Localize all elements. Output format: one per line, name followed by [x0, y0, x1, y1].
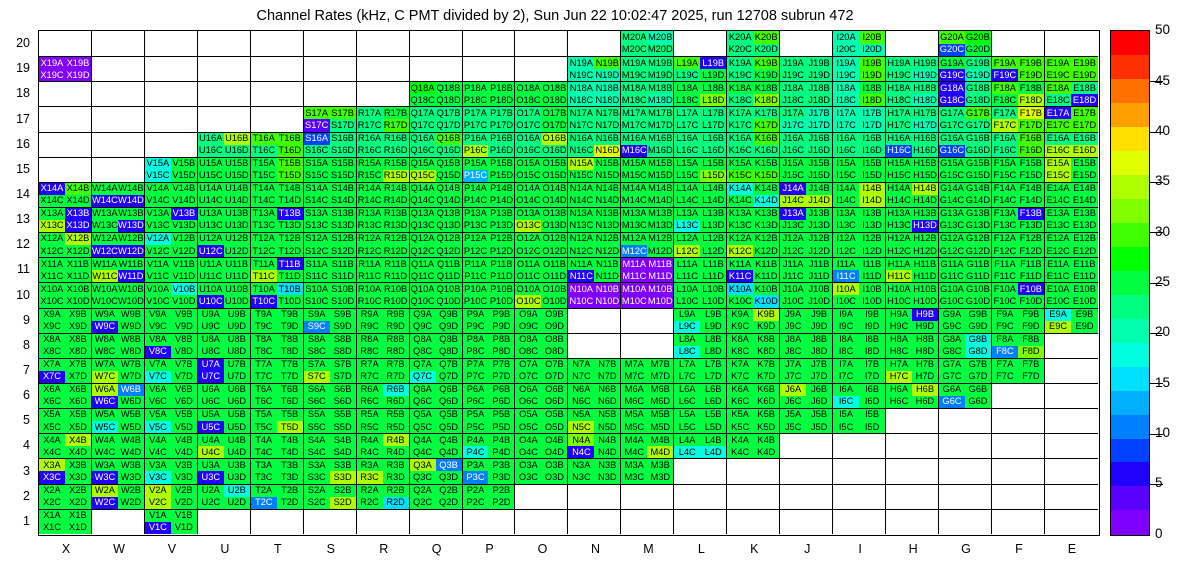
- heatmap-cell[interactable]: T11AT11BT11CT11D: [251, 257, 304, 282]
- channel-swatch[interactable]: U12D: [224, 245, 250, 257]
- heatmap-cell[interactable]: [1045, 31, 1098, 56]
- channel-swatch[interactable]: N15A: [568, 158, 594, 170]
- channel-swatch[interactable]: K11D: [753, 270, 779, 282]
- heatmap-cell[interactable]: [674, 484, 727, 509]
- channel-swatch[interactable]: Q8A: [410, 334, 436, 346]
- channel-swatch[interactable]: K16D: [753, 145, 779, 157]
- channel-swatch[interactable]: M6D: [647, 396, 673, 408]
- channel-swatch[interactable]: U9B: [224, 309, 250, 321]
- channel-swatch[interactable]: F17B: [1018, 107, 1044, 119]
- channel-swatch[interactable]: J17B: [806, 107, 832, 119]
- heatmap-cell[interactable]: O16AO16BO16CO16D: [515, 132, 568, 157]
- channel-swatch[interactable]: G18B: [965, 82, 991, 94]
- channel-swatch[interactable]: L7A: [674, 359, 700, 371]
- channel-swatch[interactable]: M13B: [647, 208, 673, 220]
- channel-swatch[interactable]: Q13A: [410, 208, 436, 220]
- channel-swatch[interactable]: W10C: [92, 295, 118, 307]
- heatmap-cell[interactable]: P18AP18BP18CP18D: [463, 81, 516, 106]
- channel-swatch[interactable]: K7D: [753, 371, 779, 383]
- heatmap-cell[interactable]: I5AI5BI5CI5D: [833, 408, 886, 433]
- channel-swatch[interactable]: J8B: [806, 334, 832, 346]
- channel-swatch[interactable]: K19A: [727, 57, 753, 69]
- channel-swatch[interactable]: L16B: [700, 133, 726, 145]
- heatmap-cell[interactable]: P8AP8BP8CP8D: [463, 333, 516, 358]
- channel-swatch[interactable]: P14B: [488, 183, 514, 195]
- channel-swatch[interactable]: M4A: [621, 434, 647, 446]
- channel-swatch[interactable]: U10C: [198, 295, 224, 307]
- channel-swatch[interactable]: E13D: [1071, 220, 1097, 232]
- channel-swatch[interactable]: O15A: [515, 158, 541, 170]
- channel-swatch[interactable]: J10A: [780, 283, 806, 295]
- channel-swatch[interactable]: T4C: [251, 446, 277, 458]
- channel-swatch[interactable]: M6C: [621, 396, 647, 408]
- channel-swatch[interactable]: P5D: [488, 421, 514, 433]
- channel-swatch[interactable]: Q16B: [436, 133, 462, 145]
- channel-swatch[interactable]: F13D: [1018, 220, 1044, 232]
- heatmap-cell[interactable]: [621, 509, 674, 534]
- heatmap-cell[interactable]: [145, 56, 198, 81]
- heatmap-cell[interactable]: X19AX19BX19CX19D: [39, 56, 92, 81]
- channel-swatch[interactable]: V13A: [145, 208, 171, 220]
- channel-swatch[interactable]: U8C: [198, 346, 224, 358]
- channel-swatch[interactable]: G9B: [965, 309, 991, 321]
- channel-swatch[interactable]: P7C: [463, 371, 489, 383]
- heatmap-cell[interactable]: J9AJ9BJ9CJ9D: [780, 308, 833, 333]
- heatmap-cell[interactable]: H12AH12BH12CH12D: [886, 232, 939, 257]
- channel-swatch[interactable]: Q14C: [410, 195, 436, 207]
- heatmap-cell[interactable]: U7AU7BU7CU7D: [198, 358, 251, 383]
- channel-swatch[interactable]: N3B: [594, 459, 620, 471]
- heatmap-cell[interactable]: W5AW5BW5CW5D: [92, 408, 145, 433]
- heatmap-cell[interactable]: I17AI17BI17CI17D: [833, 106, 886, 131]
- channel-swatch[interactable]: P4C: [463, 446, 489, 458]
- channel-swatch[interactable]: R11D: [383, 270, 409, 282]
- channel-swatch[interactable]: K14C: [727, 195, 753, 207]
- channel-swatch[interactable]: X8C: [39, 346, 65, 358]
- channel-swatch[interactable]: S9B: [330, 309, 356, 321]
- channel-swatch[interactable]: G11A: [939, 258, 965, 270]
- channel-swatch[interactable]: G8A: [939, 334, 965, 346]
- heatmap-cell[interactable]: P14AP14BP14CP14D: [463, 182, 516, 207]
- channel-swatch[interactable]: O10C: [515, 295, 541, 307]
- channel-swatch[interactable]: R5B: [383, 409, 409, 421]
- channel-swatch[interactable]: G17D: [965, 119, 991, 131]
- channel-swatch[interactable]: T10C: [251, 295, 277, 307]
- heatmap-cell[interactable]: S5AS5BS5CS5D: [304, 408, 357, 433]
- channel-swatch[interactable]: R13B: [383, 208, 409, 220]
- heatmap-cell[interactable]: K13AK13BK13CK13D: [727, 207, 780, 232]
- heatmap-cell[interactable]: O3AO3BO3CO3D: [515, 458, 568, 483]
- heatmap-cell[interactable]: K17AK17BK17CK17D: [727, 106, 780, 131]
- heatmap-cell[interactable]: T16AT16BT16CT16D: [251, 132, 304, 157]
- channel-swatch[interactable]: V14D: [171, 195, 197, 207]
- heatmap-cell[interactable]: U9AU9BU9CU9D: [198, 308, 251, 333]
- heatmap-cell[interactable]: [251, 509, 304, 534]
- channel-swatch[interactable]: Q13B: [436, 208, 462, 220]
- channel-swatch[interactable]: F16A: [992, 133, 1018, 145]
- channel-swatch[interactable]: N13D: [594, 220, 620, 232]
- channel-swatch[interactable]: M19A: [621, 57, 647, 69]
- channel-swatch[interactable]: E9C: [1045, 321, 1071, 333]
- heatmap-cell[interactable]: O7AO7BO7CO7D: [515, 358, 568, 383]
- channel-swatch[interactable]: W13D: [118, 220, 144, 232]
- channel-swatch[interactable]: I6C: [833, 396, 859, 408]
- heatmap-cell[interactable]: W8AW8BW8CW8D: [92, 333, 145, 358]
- channel-swatch[interactable]: F11C: [992, 270, 1018, 282]
- channel-swatch[interactable]: V15D: [171, 170, 197, 182]
- channel-swatch[interactable]: N7A: [568, 359, 594, 371]
- channel-swatch[interactable]: T15A: [251, 158, 277, 170]
- channel-swatch[interactable]: T15B: [277, 158, 303, 170]
- channel-swatch[interactable]: X2C: [39, 497, 65, 509]
- channel-swatch[interactable]: E11D: [1071, 270, 1097, 282]
- channel-swatch[interactable]: J5A: [780, 409, 806, 421]
- channel-swatch[interactable]: T5A: [251, 409, 277, 421]
- channel-swatch[interactable]: M19B: [647, 57, 673, 69]
- channel-swatch[interactable]: I17A: [833, 107, 859, 119]
- heatmap-cell[interactable]: U11AU11BU11CU11D: [198, 257, 251, 282]
- heatmap-cell[interactable]: [621, 333, 674, 358]
- heatmap-cell[interactable]: O13AO13BO13CO13D: [515, 207, 568, 232]
- channel-swatch[interactable]: H11D: [912, 270, 938, 282]
- channel-swatch[interactable]: E14C: [1045, 195, 1071, 207]
- heatmap-cell[interactable]: G16AG16BG16CG16D: [939, 132, 992, 157]
- channel-swatch[interactable]: W2A: [92, 485, 118, 497]
- heatmap-cell[interactable]: P9AP9BP9CP9D: [463, 308, 516, 333]
- channel-swatch[interactable]: X3B: [65, 459, 91, 471]
- channel-swatch[interactable]: Q4C: [410, 446, 436, 458]
- channel-swatch[interactable]: X6D: [65, 396, 91, 408]
- channel-swatch[interactable]: N5A: [568, 409, 594, 421]
- channel-swatch[interactable]: F15C: [992, 170, 1018, 182]
- channel-swatch[interactable]: S10C: [304, 295, 330, 307]
- heatmap-cell[interactable]: X13AX13BX13CX13D: [39, 207, 92, 232]
- heatmap-cell[interactable]: F15AF15BF15CF15D: [992, 157, 1045, 182]
- channel-swatch[interactable]: H10C: [886, 295, 912, 307]
- channel-swatch[interactable]: O11A: [515, 258, 541, 270]
- channel-swatch[interactable]: F7C: [992, 371, 1018, 383]
- channel-swatch[interactable]: E10A: [1045, 283, 1071, 295]
- channel-swatch[interactable]: F14C: [992, 195, 1018, 207]
- channel-swatch[interactable]: T13D: [277, 220, 303, 232]
- heatmap-cell[interactable]: K8AK8BK8CK8D: [727, 333, 780, 358]
- heatmap-cell[interactable]: U12AU12BU12CU12D: [198, 232, 251, 257]
- channel-swatch[interactable]: G17B: [965, 107, 991, 119]
- channel-swatch[interactable]: U15C: [198, 170, 224, 182]
- channel-swatch[interactable]: I11B: [859, 258, 885, 270]
- channel-swatch[interactable]: L19D: [700, 69, 726, 81]
- channel-swatch[interactable]: I20A: [833, 31, 859, 44]
- channel-swatch[interactable]: R12A: [357, 233, 383, 245]
- channel-swatch[interactable]: Q18D: [436, 94, 462, 106]
- channel-swatch[interactable]: Q13C: [410, 220, 436, 232]
- channel-swatch[interactable]: Q17B: [436, 107, 462, 119]
- channel-swatch[interactable]: K19C: [727, 69, 753, 81]
- channel-swatch[interactable]: O15B: [541, 158, 567, 170]
- channel-swatch[interactable]: O9D: [541, 321, 567, 333]
- channel-swatch[interactable]: Q11B: [436, 258, 462, 270]
- channel-swatch[interactable]: N18C: [568, 94, 594, 106]
- heatmap-cell[interactable]: [939, 408, 992, 433]
- channel-swatch[interactable]: J15A: [780, 158, 806, 170]
- channel-swatch[interactable]: K20D: [753, 44, 779, 57]
- channel-swatch[interactable]: K8B: [753, 334, 779, 346]
- heatmap-cell[interactable]: [410, 509, 463, 534]
- heatmap-cell[interactable]: [304, 31, 357, 56]
- heatmap-cell[interactable]: S17AS17BS17CS17D: [304, 106, 357, 131]
- channel-swatch[interactable]: X10A: [39, 283, 65, 295]
- channel-swatch[interactable]: R12C: [357, 245, 383, 257]
- heatmap-cell[interactable]: M13AM13BM13CM13D: [621, 207, 674, 232]
- heatmap-cell[interactable]: [886, 458, 939, 483]
- channel-swatch[interactable]: X7A: [39, 359, 65, 371]
- channel-swatch[interactable]: X5B: [65, 409, 91, 421]
- channel-swatch[interactable]: Q7B: [436, 359, 462, 371]
- channel-swatch[interactable]: R9A: [357, 309, 383, 321]
- channel-swatch[interactable]: K15B: [753, 158, 779, 170]
- channel-swatch[interactable]: O8B: [541, 334, 567, 346]
- channel-swatch[interactable]: V5D: [171, 421, 197, 433]
- channel-swatch[interactable]: G11D: [965, 270, 991, 282]
- heatmap-cell[interactable]: X12AX12BX12CX12D: [39, 232, 92, 257]
- channel-swatch[interactable]: G7D: [965, 371, 991, 383]
- heatmap-cell[interactable]: [939, 509, 992, 534]
- channel-swatch[interactable]: V9B: [171, 309, 197, 321]
- channel-swatch[interactable]: H19C: [886, 69, 912, 81]
- channel-swatch[interactable]: X9A: [39, 309, 65, 321]
- channel-swatch[interactable]: P6C: [463, 396, 489, 408]
- channel-swatch[interactable]: S10D: [330, 295, 356, 307]
- channel-swatch[interactable]: W13A: [92, 208, 118, 220]
- heatmap-cell[interactable]: K6AK6BK6CK6D: [727, 383, 780, 408]
- channel-swatch[interactable]: E18B: [1071, 82, 1097, 94]
- channel-swatch[interactable]: Q12A: [410, 233, 436, 245]
- channel-swatch[interactable]: O3A: [515, 459, 541, 471]
- channel-swatch[interactable]: K12B: [753, 233, 779, 245]
- channel-swatch[interactable]: L15B: [700, 158, 726, 170]
- channel-swatch[interactable]: U11C: [198, 270, 224, 282]
- channel-swatch[interactable]: O5D: [541, 421, 567, 433]
- channel-swatch[interactable]: I13B: [859, 208, 885, 220]
- channel-swatch[interactable]: Q8D: [436, 346, 462, 358]
- channel-swatch[interactable]: E15C: [1045, 170, 1071, 182]
- channel-swatch[interactable]: L9D: [700, 321, 726, 333]
- heatmap-cell[interactable]: [780, 458, 833, 483]
- channel-swatch[interactable]: V10B: [171, 283, 197, 295]
- heatmap-cell[interactable]: S2AS2BS2CS2D: [304, 484, 357, 509]
- channel-swatch[interactable]: P12A: [463, 233, 489, 245]
- heatmap-cell[interactable]: H14AH14BH14CH14D: [886, 182, 939, 207]
- channel-swatch[interactable]: G8B: [965, 334, 991, 346]
- channel-swatch[interactable]: R16B: [383, 133, 409, 145]
- channel-swatch[interactable]: Q17D: [436, 119, 462, 131]
- channel-swatch[interactable]: J10B: [806, 283, 832, 295]
- heatmap-cell[interactable]: [674, 509, 727, 534]
- channel-swatch[interactable]: S5C: [304, 421, 330, 433]
- channel-swatch[interactable]: I18D: [859, 94, 885, 106]
- channel-swatch[interactable]: E17B: [1071, 107, 1097, 119]
- channel-swatch[interactable]: X4C: [39, 446, 65, 458]
- channel-swatch[interactable]: X19B: [65, 57, 91, 69]
- channel-swatch[interactable]: G10B: [965, 283, 991, 295]
- channel-swatch[interactable]: U11A: [198, 258, 224, 270]
- heatmap-cell[interactable]: Q17AQ17BQ17CQ17D: [410, 106, 463, 131]
- channel-swatch[interactable]: G9A: [939, 309, 965, 321]
- heatmap-cell[interactable]: [39, 31, 92, 56]
- channel-swatch[interactable]: F9B: [1018, 309, 1044, 321]
- channel-swatch[interactable]: S6D: [330, 396, 356, 408]
- channel-swatch[interactable]: G18C: [939, 94, 965, 106]
- channel-swatch[interactable]: S8C: [304, 346, 330, 358]
- heatmap-cell[interactable]: [568, 509, 621, 534]
- heatmap-cell[interactable]: X7AX7BX7CX7D: [39, 358, 92, 383]
- channel-swatch[interactable]: P15C: [463, 170, 489, 182]
- channel-swatch[interactable]: K16C: [727, 145, 753, 157]
- channel-swatch[interactable]: U6B: [224, 384, 250, 396]
- channel-swatch[interactable]: F8C: [992, 346, 1018, 358]
- channel-swatch[interactable]: N5C: [568, 421, 594, 433]
- channel-swatch[interactable]: I6A: [833, 384, 859, 396]
- channel-swatch[interactable]: N17A: [568, 107, 594, 119]
- channel-swatch[interactable]: R4C: [357, 446, 383, 458]
- channel-swatch[interactable]: V8B: [171, 334, 197, 346]
- channel-swatch[interactable]: Q16A: [410, 133, 436, 145]
- channel-swatch[interactable]: G17C: [939, 119, 965, 131]
- heatmap-cell[interactable]: W7AW7BW7CW7D: [92, 358, 145, 383]
- channel-swatch[interactable]: R13D: [383, 220, 409, 232]
- channel-swatch[interactable]: Q5C: [410, 421, 436, 433]
- heatmap-cell[interactable]: V10AV10BV10CV10D: [145, 282, 198, 307]
- channel-swatch[interactable]: X1C: [39, 522, 65, 534]
- channel-swatch[interactable]: M14B: [647, 183, 673, 195]
- channel-swatch[interactable]: N6B: [594, 384, 620, 396]
- channel-swatch[interactable]: S16D: [330, 145, 356, 157]
- channel-swatch[interactable]: U3B: [224, 459, 250, 471]
- channel-swatch[interactable]: K9D: [753, 321, 779, 333]
- heatmap-cell[interactable]: F18AF18BF18CF18D: [992, 81, 1045, 106]
- channel-swatch[interactable]: V10A: [145, 283, 171, 295]
- channel-swatch[interactable]: N13B: [594, 208, 620, 220]
- heatmap-cell[interactable]: W11AW11BW11CW11D: [92, 257, 145, 282]
- channel-swatch[interactable]: U5C: [198, 421, 224, 433]
- channel-swatch[interactable]: I13D: [859, 220, 885, 232]
- channel-swatch[interactable]: O4A: [515, 434, 541, 446]
- channel-swatch[interactable]: S12B: [330, 233, 356, 245]
- heatmap-cell[interactable]: T6AT6BT6CT6D: [251, 383, 304, 408]
- channel-swatch[interactable]: E19B: [1071, 57, 1097, 69]
- channel-swatch[interactable]: K20C: [727, 44, 753, 57]
- channel-swatch[interactable]: M4B: [647, 434, 673, 446]
- heatmap-cell[interactable]: [1045, 333, 1098, 358]
- heatmap-cell[interactable]: [568, 308, 621, 333]
- heatmap-cell[interactable]: [621, 484, 674, 509]
- heatmap-cell[interactable]: I13AI13BI13CI13D: [833, 207, 886, 232]
- heatmap-cell[interactable]: L9AL9BL9CL9D: [674, 308, 727, 333]
- heatmap-cell[interactable]: L5AL5BL5CL5D: [674, 408, 727, 433]
- channel-swatch[interactable]: R2B: [383, 485, 409, 497]
- channel-swatch[interactable]: O16A: [515, 133, 541, 145]
- heatmap-cell[interactable]: V11AV11BV11CV11D: [145, 257, 198, 282]
- channel-swatch[interactable]: S13A: [304, 208, 330, 220]
- channel-swatch[interactable]: I7A: [833, 359, 859, 371]
- heatmap-cell[interactable]: M4AM4BM4CM4D: [621, 433, 674, 458]
- channel-swatch[interactable]: H17B: [912, 107, 938, 119]
- channel-swatch[interactable]: Q15A: [410, 158, 436, 170]
- heatmap-cell[interactable]: R16AR16BR16CR16D: [357, 132, 410, 157]
- channel-swatch[interactable]: M4C: [621, 446, 647, 458]
- channel-swatch[interactable]: P15D: [488, 170, 514, 182]
- channel-swatch[interactable]: P13B: [488, 208, 514, 220]
- channel-swatch[interactable]: V3C: [145, 471, 171, 483]
- channel-swatch[interactable]: I7B: [859, 359, 885, 371]
- channel-swatch[interactable]: F8B: [1018, 334, 1044, 346]
- channel-swatch[interactable]: E14D: [1071, 195, 1097, 207]
- channel-swatch[interactable]: S4A: [304, 434, 330, 446]
- channel-swatch[interactable]: I17C: [833, 119, 859, 131]
- channel-swatch[interactable]: S5D: [330, 421, 356, 433]
- channel-swatch[interactable]: Q6A: [410, 384, 436, 396]
- heatmap-cell[interactable]: K12AK12BK12CK12D: [727, 232, 780, 257]
- channel-swatch[interactable]: O14D: [541, 195, 567, 207]
- heatmap-cell[interactable]: [410, 56, 463, 81]
- channel-swatch[interactable]: P2A: [463, 485, 489, 497]
- channel-swatch[interactable]: T10A: [251, 283, 277, 295]
- channel-swatch[interactable]: T14B: [277, 183, 303, 195]
- channel-swatch[interactable]: X6B: [65, 384, 91, 396]
- channel-swatch[interactable]: P10B: [488, 283, 514, 295]
- channel-swatch[interactable]: W4A: [92, 434, 118, 446]
- channel-swatch[interactable]: G9C: [939, 321, 965, 333]
- channel-swatch[interactable]: X19A: [39, 57, 65, 69]
- channel-swatch[interactable]: U8B: [224, 334, 250, 346]
- heatmap-cell[interactable]: [410, 31, 463, 56]
- channel-swatch[interactable]: J11D: [806, 270, 832, 282]
- channel-swatch[interactable]: N14A: [568, 183, 594, 195]
- heatmap-cell[interactable]: [304, 56, 357, 81]
- channel-swatch[interactable]: W13C: [92, 220, 118, 232]
- channel-swatch[interactable]: P17C: [463, 119, 489, 131]
- channel-swatch[interactable]: P9B: [488, 309, 514, 321]
- heatmap-cell[interactable]: R11AR11BR11CR11D: [357, 257, 410, 282]
- channel-swatch[interactable]: H11A: [886, 258, 912, 270]
- channel-swatch[interactable]: L17A: [674, 107, 700, 119]
- channel-swatch[interactable]: U4A: [198, 434, 224, 446]
- channel-swatch[interactable]: G14B: [965, 183, 991, 195]
- channel-swatch[interactable]: K14A: [727, 183, 753, 195]
- heatmap-cell[interactable]: K4AK4BK4CK4D: [727, 433, 780, 458]
- heatmap-cell[interactable]: S8AS8BS8CS8D: [304, 333, 357, 358]
- channel-swatch[interactable]: X5C: [39, 421, 65, 433]
- heatmap-cell[interactable]: I18AI18BI18CI18D: [833, 81, 886, 106]
- channel-swatch[interactable]: X5A: [39, 409, 65, 421]
- heatmap-cell[interactable]: L7AL7BL7CL7D: [674, 358, 727, 383]
- channel-swatch[interactable]: L4C: [674, 446, 700, 458]
- channel-swatch[interactable]: O7C: [515, 371, 541, 383]
- channel-swatch[interactable]: X10B: [65, 283, 91, 295]
- channel-swatch[interactable]: Q10A: [410, 283, 436, 295]
- heatmap-cell[interactable]: H19AH19BH19CH19D: [886, 56, 939, 81]
- channel-swatch[interactable]: F18D: [1018, 94, 1044, 106]
- channel-swatch[interactable]: L13C: [674, 220, 700, 232]
- channel-swatch[interactable]: S14D: [330, 195, 356, 207]
- channel-swatch[interactable]: M13A: [621, 208, 647, 220]
- channel-swatch[interactable]: R5C: [357, 421, 383, 433]
- heatmap-cell[interactable]: R9AR9BR9CR9D: [357, 308, 410, 333]
- channel-swatch[interactable]: F16C: [992, 145, 1018, 157]
- channel-swatch[interactable]: K5D: [753, 421, 779, 433]
- channel-swatch[interactable]: Q2B: [436, 485, 462, 497]
- heatmap-cell[interactable]: [674, 458, 727, 483]
